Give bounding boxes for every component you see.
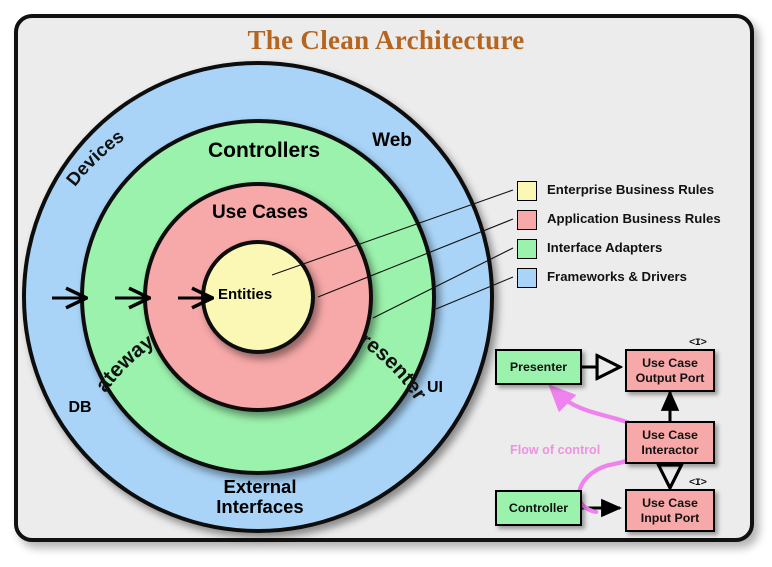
input-port-line-1: Use Case — [642, 496, 698, 511]
input-port-line-2: Input Port — [641, 511, 700, 526]
ring-label-use-cases: Use Cases — [198, 203, 322, 224]
interactor-line-2: Interactor — [641, 443, 698, 458]
ring-label-db: DB — [52, 399, 108, 416]
flow-box-controller: Controller — [495, 490, 582, 526]
ring-label-entities: Entities — [218, 287, 308, 303]
legend-swatch-enterprise — [517, 181, 537, 201]
flow-box-use-case-output-port: Use Case Output Port — [625, 349, 715, 392]
output-port-line-1: Use Case — [642, 356, 698, 371]
legend-label-application: Application Business Rules — [547, 211, 721, 226]
flow-box-presenter: Presenter — [495, 349, 582, 385]
ring-label-external-interfaces: External Interfaces — [188, 477, 332, 517]
legend-swatch-frameworks — [517, 268, 537, 288]
page-title: The Clean Architecture — [0, 25, 772, 56]
legend-label-interface: Interface Adapters — [547, 240, 662, 255]
flow-of-control-label: Flow of control — [510, 443, 600, 457]
ring-label-web: Web — [355, 131, 429, 152]
legend-label-frameworks: Frameworks & Drivers — [547, 269, 687, 284]
external-line-1: External — [223, 476, 296, 497]
output-port-line-2: Output Port — [636, 371, 705, 386]
ring-label-controllers: Controllers — [208, 140, 312, 163]
interface-marker-output-port: <I> — [689, 337, 706, 349]
flow-box-use-case-input-port: Use Case Input Port — [625, 489, 715, 532]
legend-swatch-interface — [517, 239, 537, 259]
external-line-2: Interfaces — [216, 496, 303, 517]
flow-box-presenter-label: Presenter — [510, 360, 567, 375]
diagram-root: Gateways Presenters Devices — [0, 0, 772, 567]
ring-label-ui: UI — [412, 379, 458, 396]
legend-label-enterprise: Enterprise Business Rules — [547, 182, 714, 197]
legend-swatch-application — [517, 210, 537, 230]
interactor-line-1: Use Case — [642, 428, 698, 443]
flow-box-controller-label: Controller — [509, 501, 568, 516]
flow-box-use-case-interactor: Use Case Interactor — [625, 421, 715, 464]
interface-marker-input-port: <I> — [689, 477, 706, 489]
